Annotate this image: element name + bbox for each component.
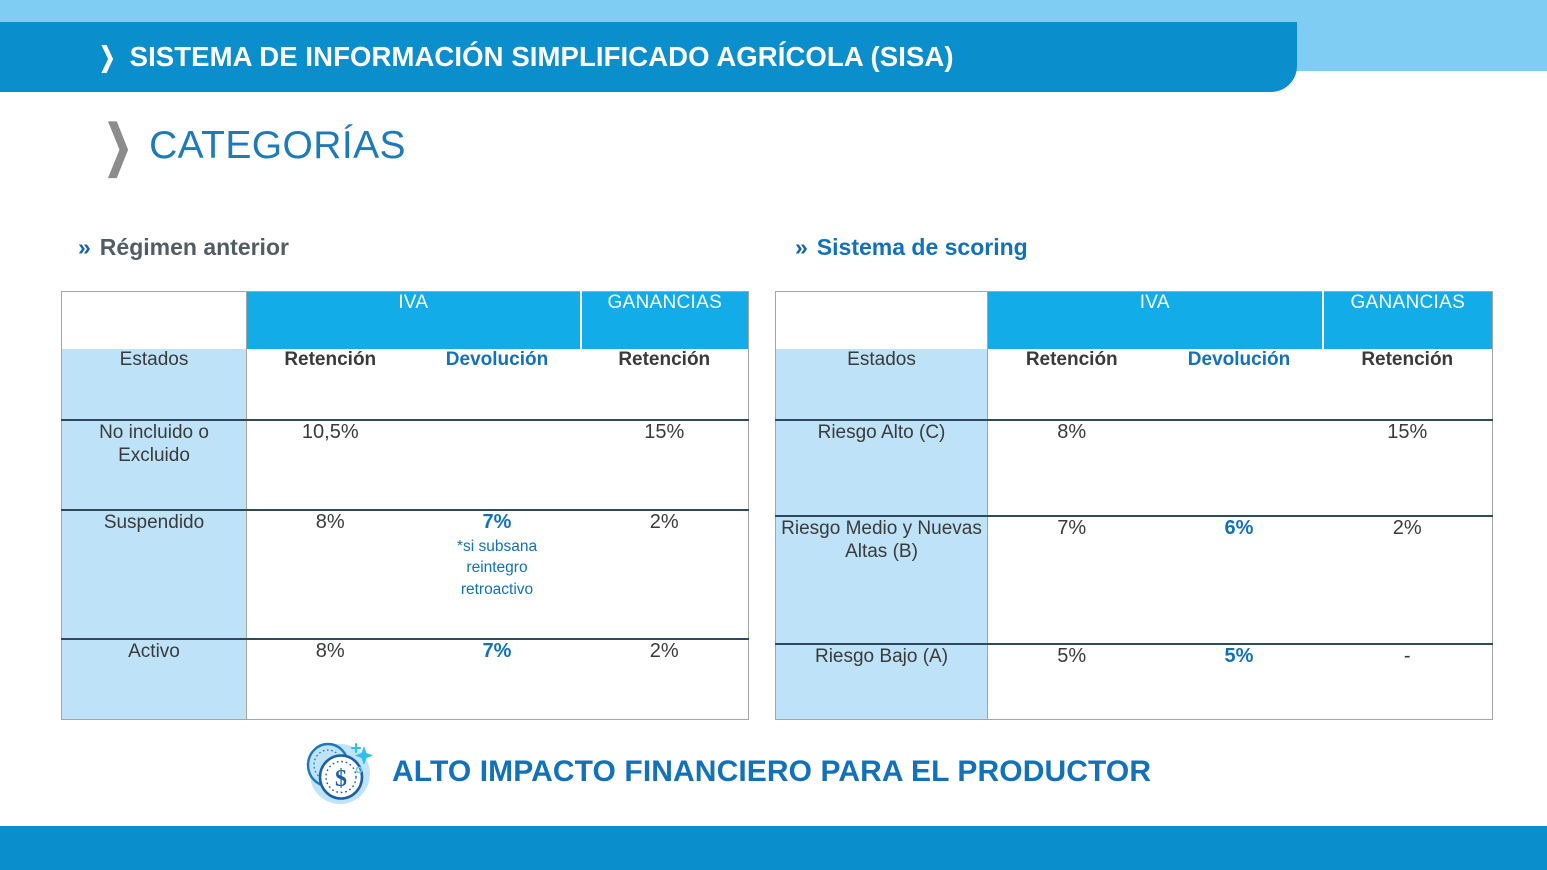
- cell-iva-devolucion-value: 7%: [414, 511, 581, 534]
- col-header-iva-retencion: Retención: [988, 349, 1156, 420]
- cell-iva-retencion: 5%: [988, 644, 1156, 720]
- cell-ganancias-retencion: 2%: [581, 510, 749, 639]
- cell-iva-devolucion: [1156, 420, 1323, 516]
- col-header-ganancias-retencion: Retención: [581, 349, 749, 420]
- group-header-blank: [62, 292, 247, 350]
- page-title-row: ❯ CATEGORÍAS: [95, 118, 406, 173]
- row-label: Activo: [62, 639, 247, 720]
- cell-iva-retencion: 8%: [988, 420, 1156, 516]
- header-title-row: ❯ SISTEMA DE INFORMACIÓN SIMPLIFICADO AG…: [0, 22, 1297, 92]
- col-header-ganancias-retencion: Retención: [1323, 349, 1493, 420]
- table-column-header-row: Estados Retención Devolución Retención: [776, 349, 1493, 420]
- table-column-header-row: Estados Retención Devolución Retención: [62, 349, 749, 420]
- header-title: SISTEMA DE INFORMACIÓN SIMPLIFICADO AGRÍ…: [130, 41, 954, 73]
- cell-ganancias-retencion: 15%: [1323, 420, 1493, 516]
- cell-ganancias-retencion: 2%: [581, 639, 749, 720]
- cell-ganancias-retencion: -: [1323, 644, 1493, 720]
- right-panel-heading: » Sistema de scoring: [795, 234, 1028, 261]
- left-panel-heading-label: Régimen anterior: [100, 234, 289, 261]
- table-row: Activo 8% 7% 2%: [62, 639, 749, 720]
- table-row: Riesgo Alto (C) 8% 15%: [776, 420, 1493, 516]
- cell-iva-devolucion-note: *si subsanareintegroretroactivo: [414, 536, 581, 600]
- svg-text:$: $: [335, 766, 347, 792]
- group-header-ganancias: GANANCIAS: [581, 292, 749, 350]
- coin-dollar-icon: $: [296, 730, 380, 814]
- cell-iva-devolucion: 5%: [1156, 644, 1323, 720]
- regimen-anterior-table: IVA GANANCIAS Estados Retención Devoluci…: [61, 291, 749, 720]
- cell-iva-devolucion: 7%: [414, 639, 581, 720]
- chevron-right-icon: ❯: [104, 118, 133, 173]
- col-header-estados: Estados: [776, 349, 988, 420]
- sistema-scoring-table: IVA GANANCIAS Estados Retención Devoluci…: [775, 291, 1493, 720]
- cell-ganancias-retencion: 15%: [581, 420, 749, 510]
- footer-bar: [0, 826, 1547, 870]
- group-header-iva: IVA: [247, 292, 581, 350]
- table-row: No incluido o Excluido 10,5% 15%: [62, 420, 749, 510]
- footer-message-text: ALTO IMPACTO FINANCIERO PARA EL PRODUCTO…: [392, 755, 1151, 789]
- row-label: Riesgo Alto (C): [776, 420, 988, 516]
- group-header-ganancias: GANANCIAS: [1323, 292, 1493, 350]
- table-row: Riesgo Bajo (A) 5% 5% -: [776, 644, 1493, 720]
- group-header-iva: IVA: [988, 292, 1323, 350]
- table-group-header-row: IVA GANANCIAS: [62, 292, 749, 350]
- double-chevron-icon: »: [78, 234, 91, 261]
- row-label: No incluido o Excluido: [62, 420, 247, 510]
- page-title: CATEGORÍAS: [149, 124, 406, 168]
- left-panel-heading: » Régimen anterior: [78, 234, 289, 261]
- group-header-blank: [776, 292, 988, 350]
- cell-iva-retencion: 7%: [988, 516, 1156, 644]
- right-panel-heading-label: Sistema de scoring: [817, 234, 1028, 261]
- cell-iva-retencion: 10,5%: [247, 420, 414, 510]
- col-header-estados: Estados: [62, 349, 247, 420]
- row-label: Riesgo Medio y Nuevas Altas (B): [776, 516, 988, 644]
- cell-iva-devolucion: 6%: [1156, 516, 1323, 644]
- cell-iva-retencion: 8%: [247, 510, 414, 639]
- cell-iva-devolucion: [414, 420, 581, 510]
- footer-message: $ ALTO IMPACTO FINANCIERO PARA EL PRODUC…: [296, 730, 1151, 814]
- row-label: Riesgo Bajo (A): [776, 644, 988, 720]
- col-header-iva-retencion: Retención: [247, 349, 414, 420]
- cell-ganancias-retencion: 2%: [1323, 516, 1493, 644]
- col-header-iva-devolucion: Devolución: [1156, 349, 1323, 420]
- cell-iva-retencion: 8%: [247, 639, 414, 720]
- chevron-right-icon: ❯: [99, 44, 115, 71]
- table-row: Riesgo Medio y Nuevas Altas (B) 7% 6% 2%: [776, 516, 1493, 644]
- row-label: Suspendido: [62, 510, 247, 639]
- table-row: Suspendido 8% 7% *si subsanareintegroret…: [62, 510, 749, 639]
- double-chevron-icon: »: [795, 234, 808, 261]
- table-group-header-row: IVA GANANCIAS: [776, 292, 1493, 350]
- cell-iva-devolucion: 7% *si subsanareintegroretroactivo: [414, 510, 581, 639]
- col-header-iva-devolucion: Devolución: [414, 349, 581, 420]
